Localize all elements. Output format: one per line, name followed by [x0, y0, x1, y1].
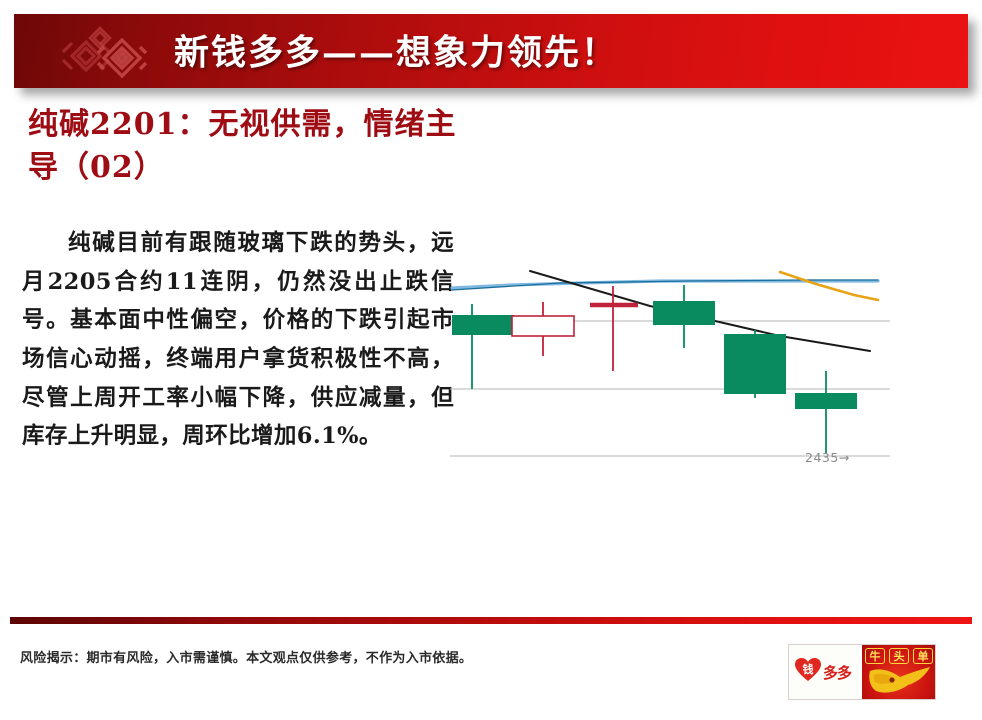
ntd-char-3: 单	[913, 648, 933, 664]
ma-orange-down	[780, 272, 878, 300]
candle-3	[590, 286, 638, 371]
candle-5	[724, 330, 786, 398]
banner-title: 新钱多多——想象力领先！	[174, 24, 618, 75]
candle-2	[512, 302, 574, 356]
heart-icon: 钱	[795, 658, 821, 682]
footer-divider	[10, 617, 972, 624]
qianduoduo-logo: 钱 多多	[789, 645, 862, 699]
footer-disclaimer: 风险揭示：期市有风险，入市需谨慎。本文观点仅供参考，不作为入市依据。	[20, 647, 472, 666]
candle-4	[653, 285, 715, 348]
page-title: 纯碱2201：无视供需，情绪主导（02）	[28, 104, 468, 189]
bull-head-icon	[866, 665, 932, 697]
chart-candles	[452, 285, 857, 454]
qdd-heart-char: 钱	[803, 662, 814, 676]
ntd-char-2: 头	[889, 648, 909, 664]
candle-1	[452, 304, 514, 389]
chinese-knot-diamond-icon	[42, 22, 154, 84]
body-paragraph: 纯碱目前有跟随玻璃下跌的势头，远月2205合约11连阴，仍然没出止跌信号。基本面…	[22, 224, 454, 456]
header-banner: 新钱多多——想象力领先！	[14, 14, 968, 88]
footer-logo-group: 钱 多多 牛 头 单	[788, 644, 936, 700]
qdd-wordmark: 多多	[823, 662, 851, 683]
price-label: 2435→	[805, 450, 850, 465]
chart-gridlines	[450, 321, 890, 456]
ntd-char-1: 牛	[865, 648, 885, 664]
ntd-char-row: 牛 头 单	[865, 648, 933, 664]
niutoudan-logo: 牛 头 单	[862, 645, 935, 699]
candle-6	[795, 371, 857, 454]
candlestick-chart: 2435→	[450, 258, 890, 483]
